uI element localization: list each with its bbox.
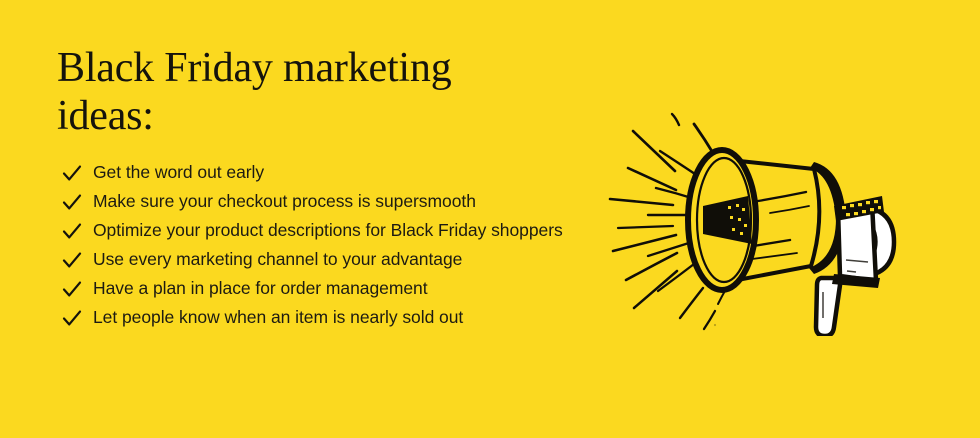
text-column: Black Friday marketing ideas: Get the wo… [57, 44, 587, 332]
list-item: Let people know when an item is nearly s… [57, 303, 587, 332]
poster-canvas: Black Friday marketing ideas: Get the wo… [0, 0, 980, 438]
checklist: Get the word out early Make sure your ch… [57, 158, 587, 332]
list-item: Use every marketing channel to your adva… [57, 245, 587, 274]
page-title: Black Friday marketing ideas: [57, 44, 587, 140]
list-item-label: Get the word out early [93, 162, 264, 182]
list-item: Optimize your product descriptions for B… [57, 216, 587, 245]
checkmark-icon [62, 158, 82, 187]
list-item: Make sure your checkout process is super… [57, 187, 587, 216]
list-item-label: Make sure your checkout process is super… [93, 191, 476, 211]
list-item-label: Optimize your product descriptions for B… [93, 220, 563, 240]
list-item: Have a plan in place for order managemen… [57, 274, 587, 303]
list-item: Get the word out early [57, 158, 587, 187]
list-item-label: Have a plan in place for order managemen… [93, 278, 428, 298]
megaphone-illustration [600, 96, 930, 336]
checkmark-icon [62, 216, 82, 245]
checkmark-icon [62, 187, 82, 216]
list-item-label: Use every marketing channel to your adva… [93, 249, 462, 269]
checkmark-icon [62, 274, 82, 303]
list-item-label: Let people know when an item is nearly s… [93, 307, 463, 327]
checkmark-icon [62, 245, 82, 274]
handle [816, 278, 840, 336]
stray-dot [714, 324, 716, 326]
checkmark-icon [62, 303, 82, 332]
